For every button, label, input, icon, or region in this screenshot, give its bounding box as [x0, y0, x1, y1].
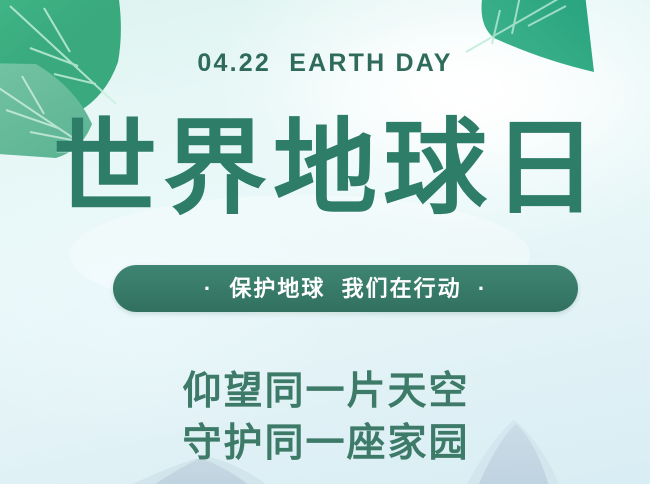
- eyebrow-date-label: 04.22 EARTH DAY: [0, 48, 650, 78]
- slogan-banner-text: · 保护地球 我们在行动 ·: [204, 277, 487, 301]
- slogan-banner: · 保护地球 我们在行动 ·: [113, 265, 578, 312]
- earth-day-poster: 04.22 EARTH DAY 世界地球日 · 保护地球 我们在行动 · 仰望同…: [0, 0, 650, 484]
- couplet-block: 仰望同一片天空 守护同一座家园: [0, 366, 650, 470]
- couplet-line-1: 仰望同一片天空: [0, 366, 650, 418]
- page-title: 世界地球日: [0, 108, 650, 230]
- couplet-line-2: 守护同一座家园: [0, 418, 650, 470]
